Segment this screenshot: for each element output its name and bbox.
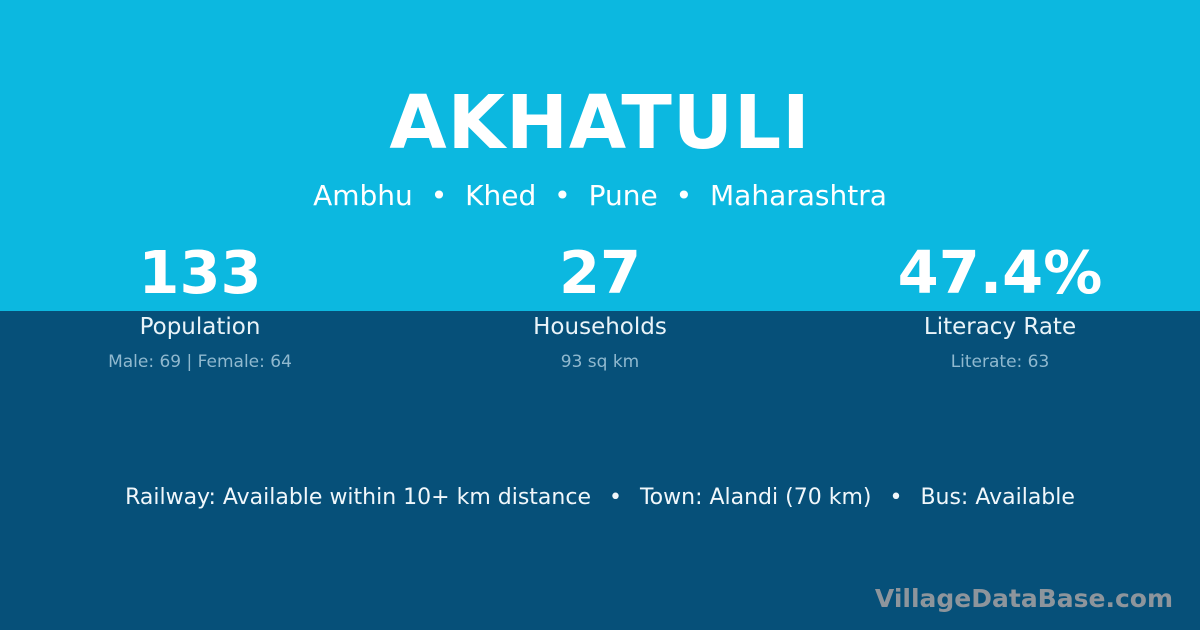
stat-label: Households: [400, 316, 800, 339]
amenity-separator-icon: •: [609, 487, 622, 509]
stat-subtext: 93 sq km: [400, 354, 800, 371]
breadcrumb-item-taluka: Khed: [465, 179, 536, 212]
stat-value: 47.4%: [800, 240, 1200, 306]
breadcrumb-item-state: Maharashtra: [710, 179, 887, 212]
amenity-town: Town: Alandi (70 km): [640, 485, 871, 510]
breadcrumb-separator-icon: •: [431, 182, 448, 210]
stat-value: 133: [0, 240, 400, 306]
statistics-row: 133 Population Male: 69 | Female: 64 27 …: [0, 240, 1200, 371]
breadcrumb-item-village: Ambhu: [313, 179, 413, 212]
stat-value: 27: [400, 240, 800, 306]
breadcrumb-separator-icon: •: [676, 182, 693, 210]
stat-population: 133 Population Male: 69 | Female: 64: [0, 240, 400, 371]
site-watermark: VillageDataBase.com: [875, 586, 1173, 611]
breadcrumb-separator-icon: •: [554, 182, 571, 210]
breadcrumb-item-district: Pune: [589, 179, 658, 212]
stat-subtext: Male: 69 | Female: 64: [0, 354, 400, 371]
breadcrumb: Ambhu • Khed • Pune • Maharashtra: [0, 182, 1200, 210]
stat-label: Population: [0, 316, 400, 339]
village-info-card: { "colors": { "band_top": "#0cb8e0", "ba…: [0, 0, 1200, 630]
amenity-separator-icon: •: [889, 487, 902, 509]
stat-literacy-rate: 47.4% Literacy Rate Literate: 63: [800, 240, 1200, 371]
amenity-bus: Bus: Available: [920, 485, 1074, 510]
stat-label: Literacy Rate: [800, 316, 1200, 339]
card-header: AKHATULI Ambhu • Khed • Pune • Maharasht…: [0, 0, 1200, 210]
stat-subtext: Literate: 63: [800, 354, 1200, 371]
stat-households: 27 Households 93 sq km: [400, 240, 800, 371]
amenities-line: Railway: Available within 10+ km distanc…: [0, 487, 1200, 509]
amenity-railway: Railway: Available within 10+ km distanc…: [125, 485, 591, 510]
page-title: AKHATULI: [0, 86, 1200, 160]
